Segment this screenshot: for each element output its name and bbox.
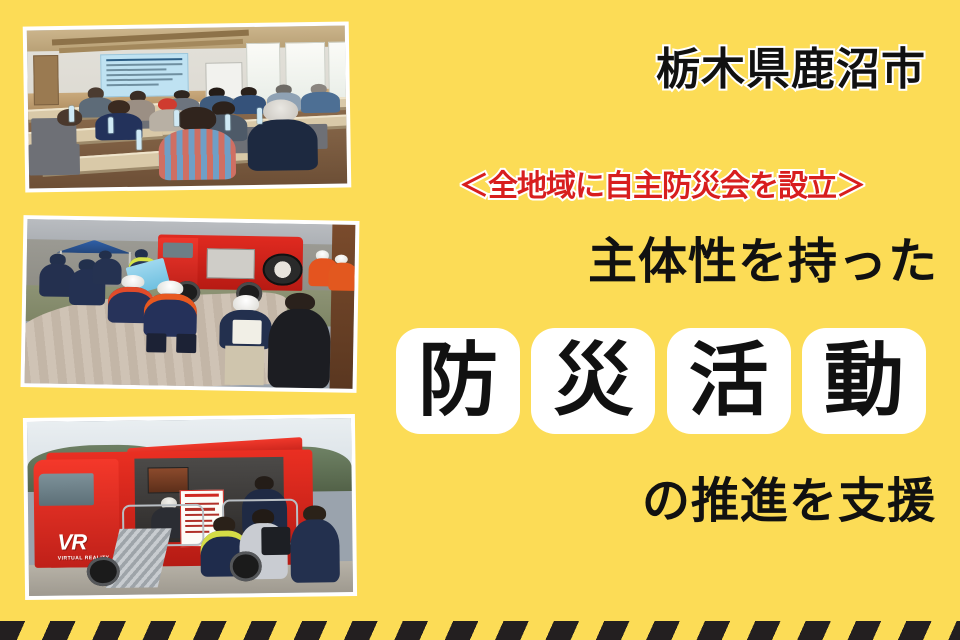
kanji-box-4: 動 — [802, 328, 926, 434]
headline-line-1: 主体性を持った — [588, 238, 938, 287]
subtitle-banner: ＜全地域に自主防災会を設立＞ — [384, 172, 940, 202]
photo-rescue-drill — [21, 215, 360, 393]
page-title: 栃木県鹿沼市 — [656, 48, 926, 92]
poster-root: VRVIRTUAL REALITY 栃木県鹿沼市 ＜全地域に自主防災会を設立＞ … — [0, 0, 960, 640]
photo-seminar-room — [23, 21, 352, 192]
photo-column: VRVIRTUAL REALITY — [0, 0, 380, 620]
kanji-box-3: 活 — [667, 328, 791, 434]
kanji-box-row: 防 災 活 動 — [396, 328, 926, 434]
photo-vr-truck-frame: VRVIRTUAL REALITY — [27, 418, 353, 596]
kanji-box-1: 防 — [396, 328, 520, 434]
photo-vr-disaster-truck: VRVIRTUAL REALITY — [23, 414, 357, 600]
photo-seminar-room-frame — [27, 26, 347, 189]
tagline: の推進を支援 — [642, 478, 936, 526]
photo-rescue-drill-frame — [25, 219, 356, 389]
kanji-box-2: 災 — [531, 328, 655, 434]
hazard-stripe-band — [0, 621, 960, 640]
